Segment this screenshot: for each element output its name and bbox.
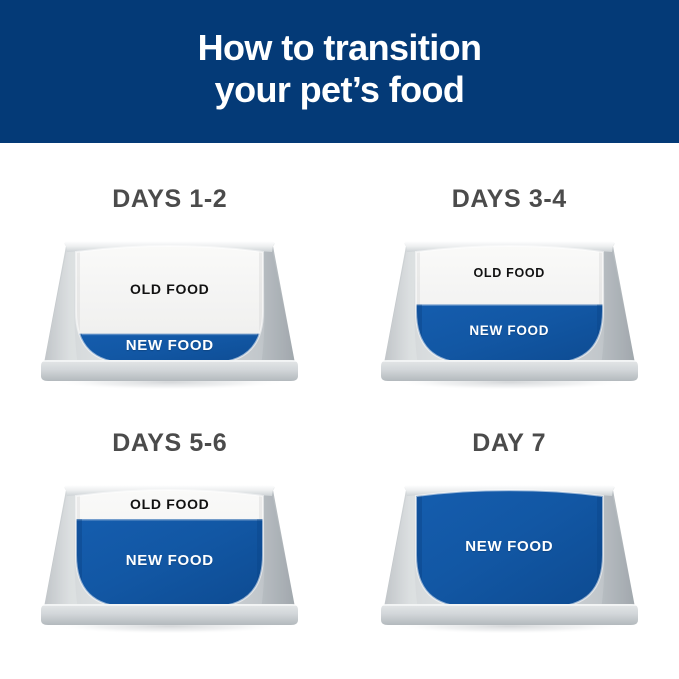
step-card-2: DAYS 3-4 bbox=[340, 143, 679, 411]
step-card-1: DAYS 1-2 bbox=[0, 143, 340, 411]
header-banner: How to transition your pet’s food bbox=[0, 0, 679, 143]
food-bowl-3: OLD FOOD NEW FOOD bbox=[32, 476, 307, 636]
bowl-illustration bbox=[32, 476, 307, 636]
food-bowl-4: NEW FOOD bbox=[372, 476, 647, 636]
step-day-label: DAYS 1-2 bbox=[112, 185, 227, 214]
step-day-label: DAY 7 bbox=[472, 429, 546, 458]
step-day-label: DAYS 3-4 bbox=[452, 185, 567, 214]
transition-steps-grid: DAYS 1-2 bbox=[0, 143, 679, 679]
bowl-food-fill bbox=[72, 480, 267, 613]
bowl-food-fill bbox=[72, 236, 267, 369]
infographic-page: How to transition your pet’s food DAYS 1… bbox=[0, 0, 679, 679]
bowl-food-fill bbox=[412, 236, 607, 369]
food-bowl-2: OLD FOOD NEW FOOD bbox=[372, 232, 647, 392]
bowl-illustration bbox=[372, 232, 647, 392]
bowl-illustration bbox=[32, 232, 307, 392]
bowl-food-fill bbox=[412, 480, 607, 613]
page-title-line-2: your pet’s food bbox=[215, 69, 465, 111]
step-card-4: DAY 7 bbox=[340, 411, 679, 679]
food-bowl-1: OLD FOOD NEW FOOD bbox=[32, 232, 307, 392]
step-day-label: DAYS 5-6 bbox=[112, 429, 227, 458]
step-card-3: DAYS 5-6 bbox=[0, 411, 340, 679]
bowl-illustration bbox=[372, 476, 647, 636]
page-title-line-1: How to transition bbox=[198, 27, 482, 69]
